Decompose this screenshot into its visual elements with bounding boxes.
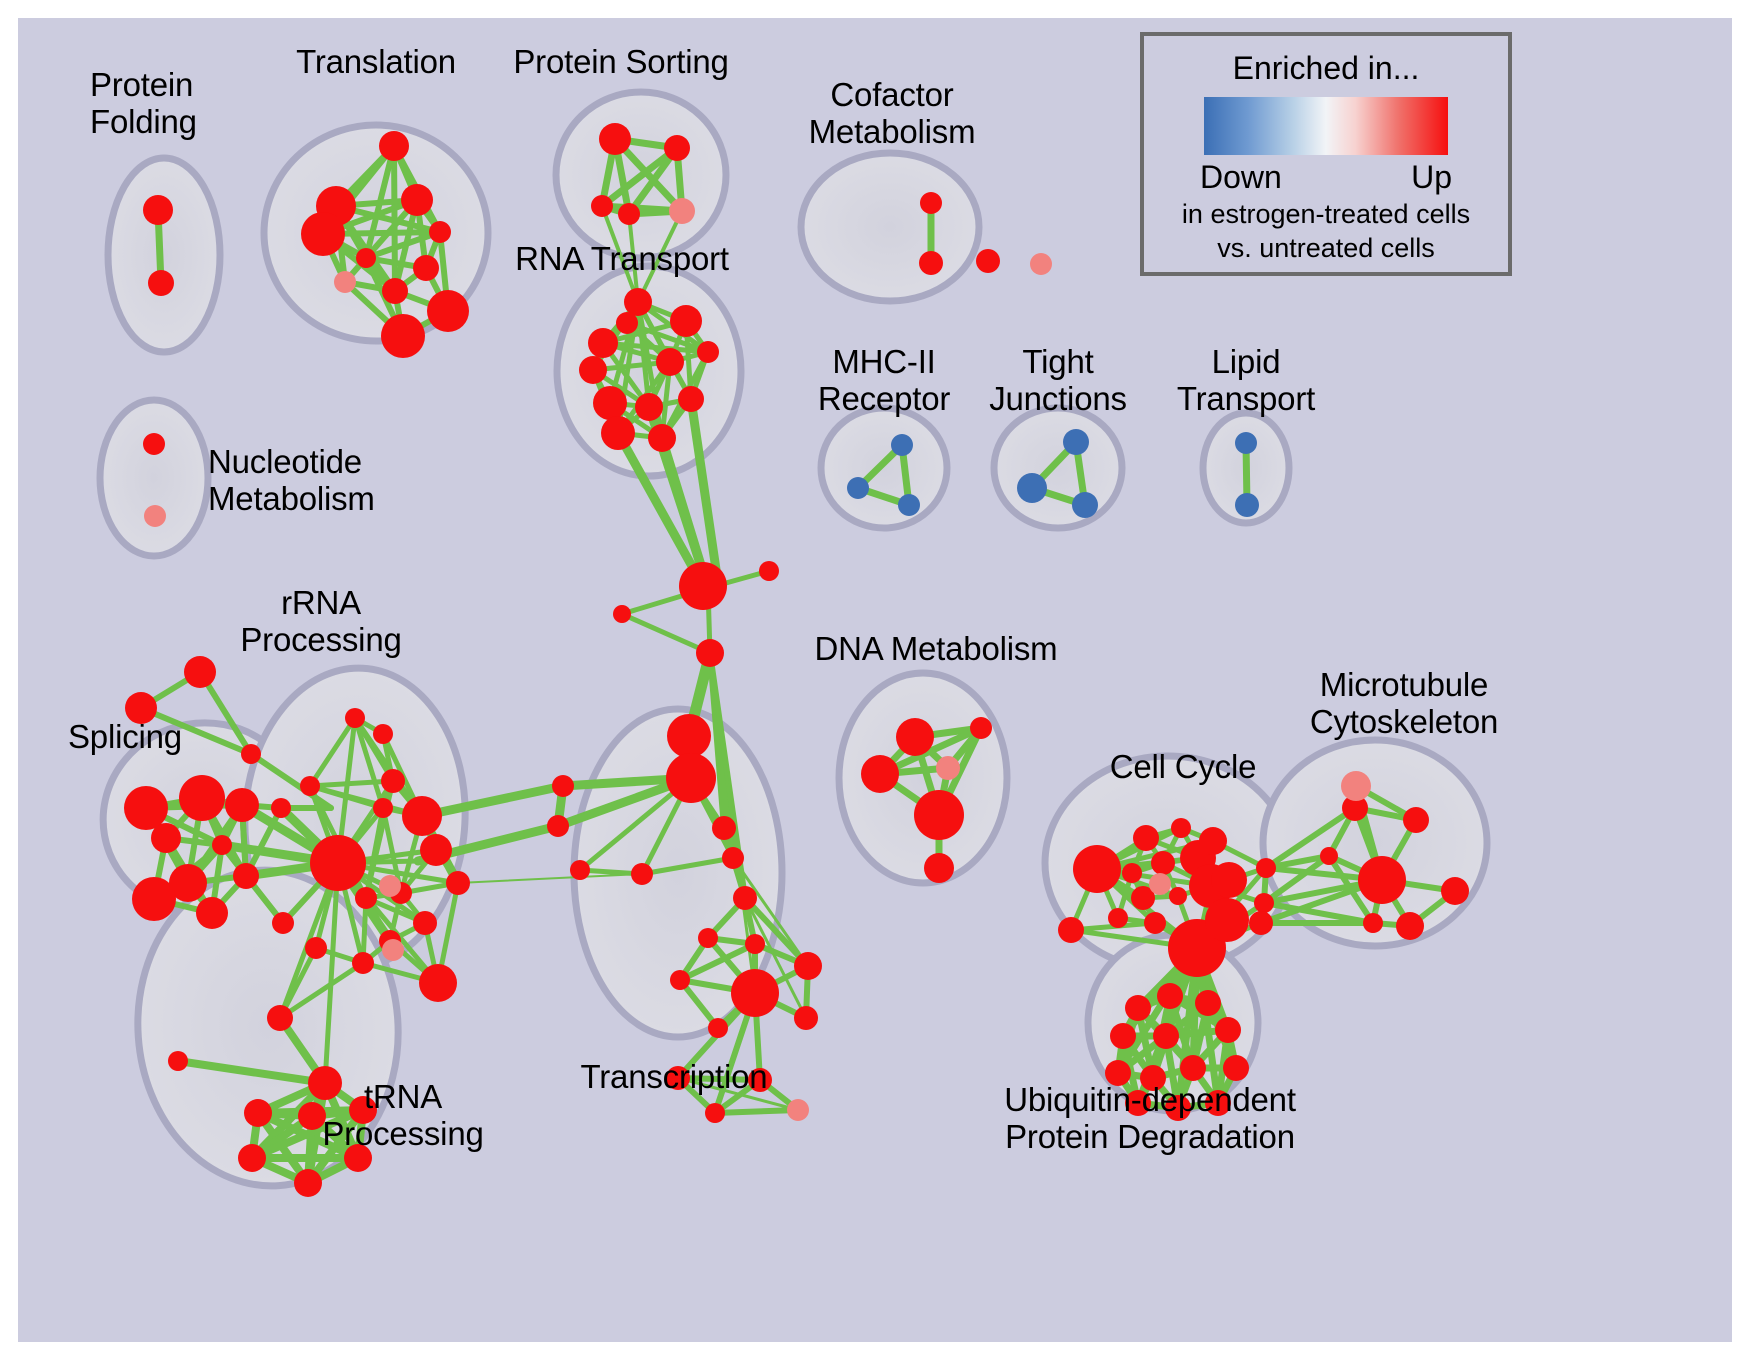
label-translation: Translation <box>296 43 456 80</box>
legend-endpoints: Down Up <box>1200 159 1452 196</box>
label-rrna-processing: rRNA Processing <box>240 584 401 658</box>
label-dna-metabolism: DNA Metabolism <box>815 630 1058 667</box>
label-tight-junctions: Tight Junctions <box>989 343 1127 417</box>
label-rna-transport: RNA Transport <box>515 240 729 277</box>
label-trna-processing: tRNA Processing <box>322 1078 483 1152</box>
blob-cofactor <box>801 153 979 301</box>
network-diagram: Protein Folding Translation Protein Sort… <box>18 18 1732 1342</box>
label-protein-folding: Protein Folding <box>90 66 197 140</box>
label-microtubule-cytoskeleton: Microtubule Cytoskeleton <box>1310 666 1498 740</box>
label-nucleotide-metabolism: Nucleotide Metabolism <box>208 443 375 517</box>
label-ubiquitin-protein-degradation: Ubiquitin-dependent Protein Degradation <box>1004 1081 1296 1155</box>
label-protein-sorting: Protein Sorting <box>513 43 728 80</box>
label-mhc-ii-receptor: MHC-II Receptor <box>818 343 950 417</box>
legend-down-label: Down <box>1200 159 1282 196</box>
blob-nucleotide <box>100 400 208 556</box>
label-cell-cycle: Cell Cycle <box>1110 748 1257 785</box>
label-lipid-transport: Lipid Transport <box>1177 343 1315 417</box>
legend-up-label: Up <box>1411 159 1452 196</box>
blob-protein-folding <box>108 158 220 352</box>
label-cofactor-metabolism: Cofactor Metabolism <box>809 76 976 150</box>
legend-caption-line2: vs. untreated cells <box>1144 232 1508 264</box>
legend-color-gradient <box>1204 97 1448 155</box>
legend-caption-line1: in estrogen-treated cells <box>1144 198 1508 230</box>
legend-title: Enriched in... <box>1144 50 1508 87</box>
blob-tight <box>994 408 1122 528</box>
blob-mhc <box>821 408 947 528</box>
label-splicing: Splicing <box>68 718 182 755</box>
legend-panel: Enriched in... Down Up in estrogen-treat… <box>1140 32 1512 276</box>
label-transcription: Transcription <box>581 1058 768 1095</box>
figure-canvas: Protein Folding Translation Protein Sort… <box>0 0 1750 1360</box>
